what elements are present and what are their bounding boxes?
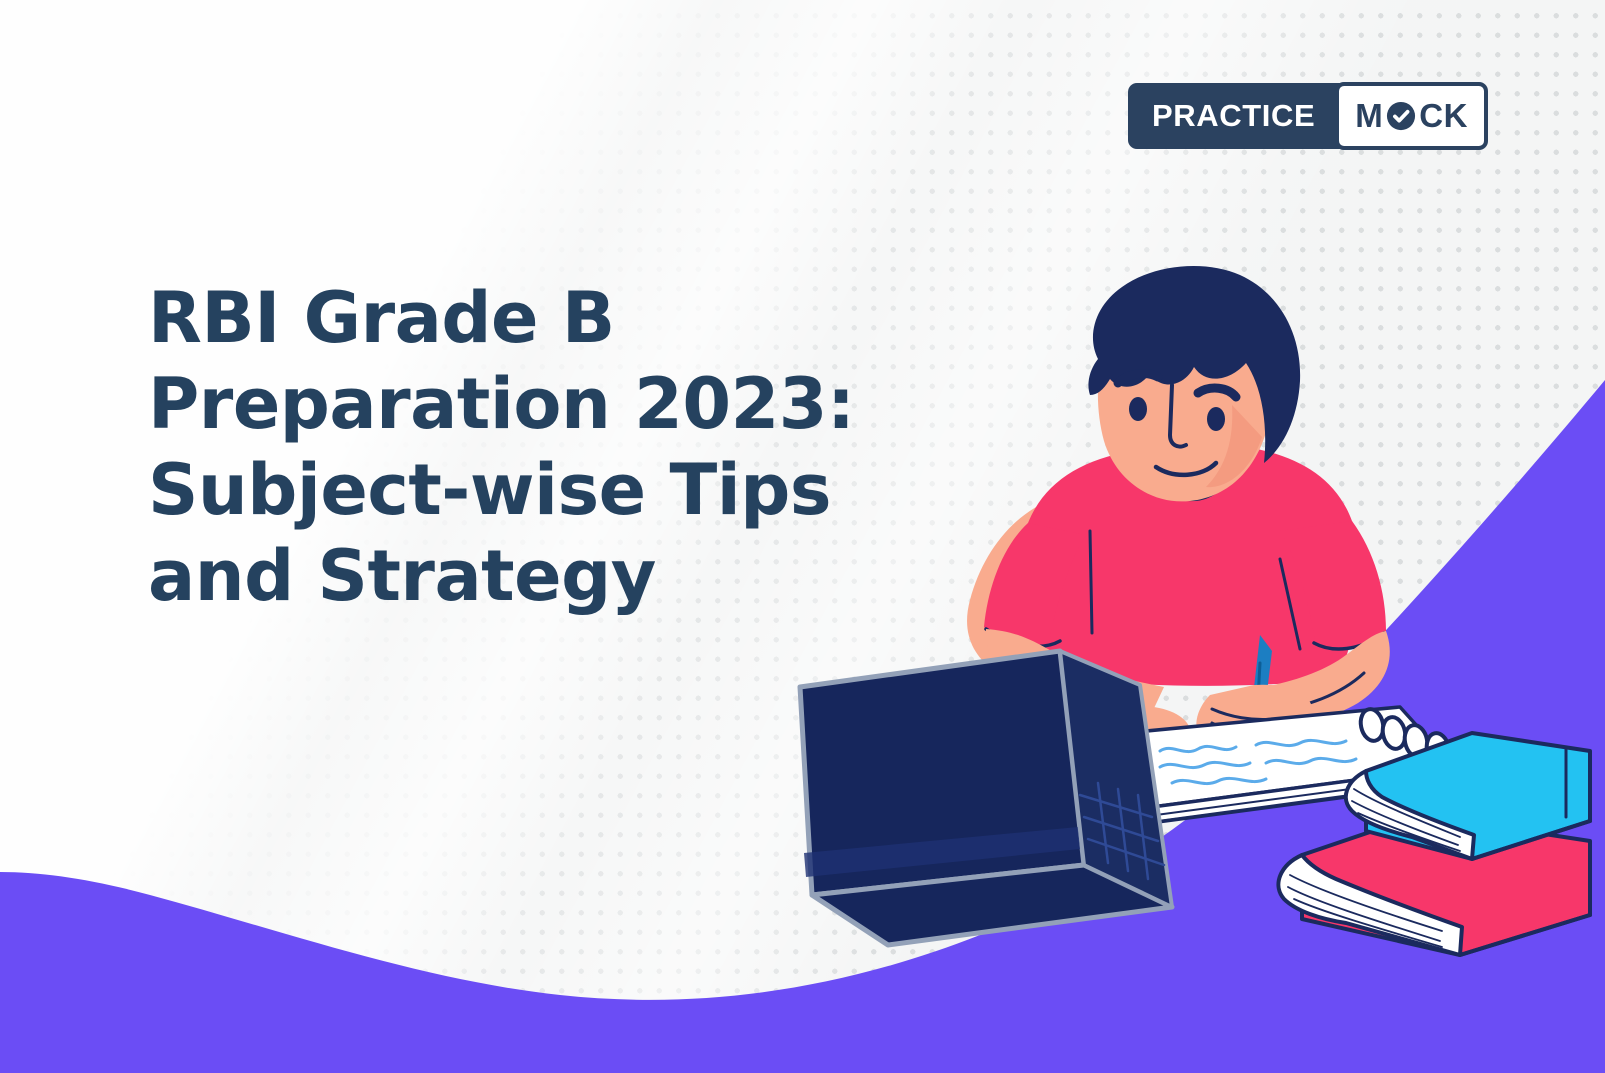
logo-mock-letters-before: M [1355,97,1383,135]
logo-plate-mock: M CK [1335,82,1488,150]
logo-word-practice: PRACTICE [1128,83,1335,149]
page-title: RBI Grade B Preparation 2023: Subject-wi… [148,275,908,619]
check-circle-icon [1386,101,1416,131]
promotional-banner: RBI Grade B Preparation 2023: Subject-wi… [0,0,1605,1073]
logo-mock-letters-after: CK [1419,97,1468,135]
practicemock-logo[interactable]: PRACTICE M CK [1128,83,1487,149]
